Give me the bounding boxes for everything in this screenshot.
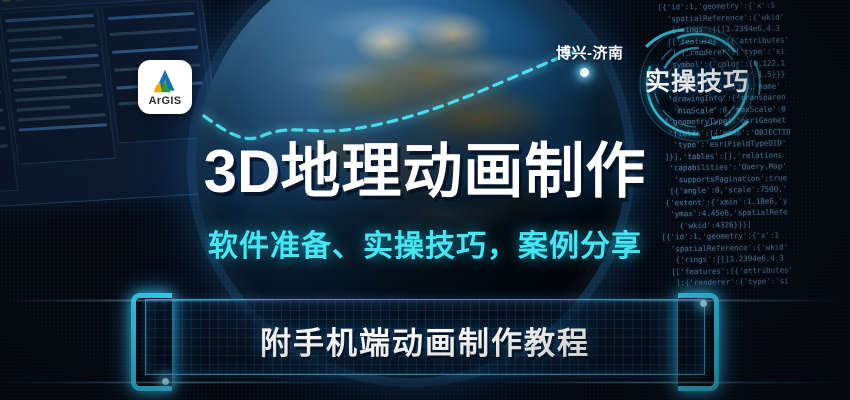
vignette-overlay [0, 0, 850, 400]
poster-canvas: [{'id':1,'geometry':{'x':1 'spatialRefer… [0, 0, 850, 400]
